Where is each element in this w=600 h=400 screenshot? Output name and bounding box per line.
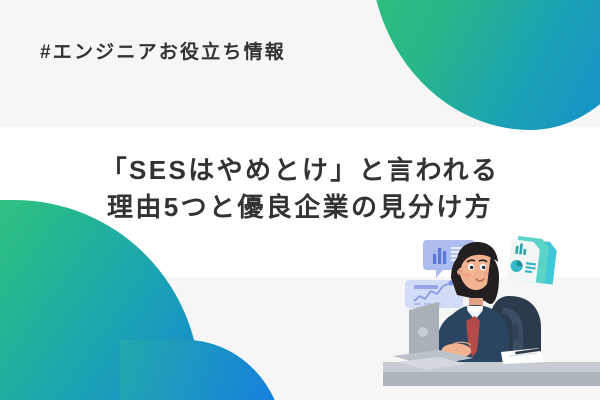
thumbnail-canvas: #エンジニアお役立ち情報 「SESはやめとけ」と言われる 理由5つと優良企業の見…	[0, 0, 600, 400]
page-title-line-2: 理由5つと優良企業の見分け方	[0, 189, 600, 226]
businesswoman-at-desk-illustration	[383, 236, 600, 400]
report-documents-icon	[507, 236, 558, 285]
page-title-line-1: 「SESはやめとけ」と言われる	[0, 152, 600, 189]
hashtag-label: #エンジニアお役立ち情報	[40, 37, 286, 64]
page-title: 「SESはやめとけ」と言われる 理由5つと優良企業の見分け方	[0, 152, 600, 226]
